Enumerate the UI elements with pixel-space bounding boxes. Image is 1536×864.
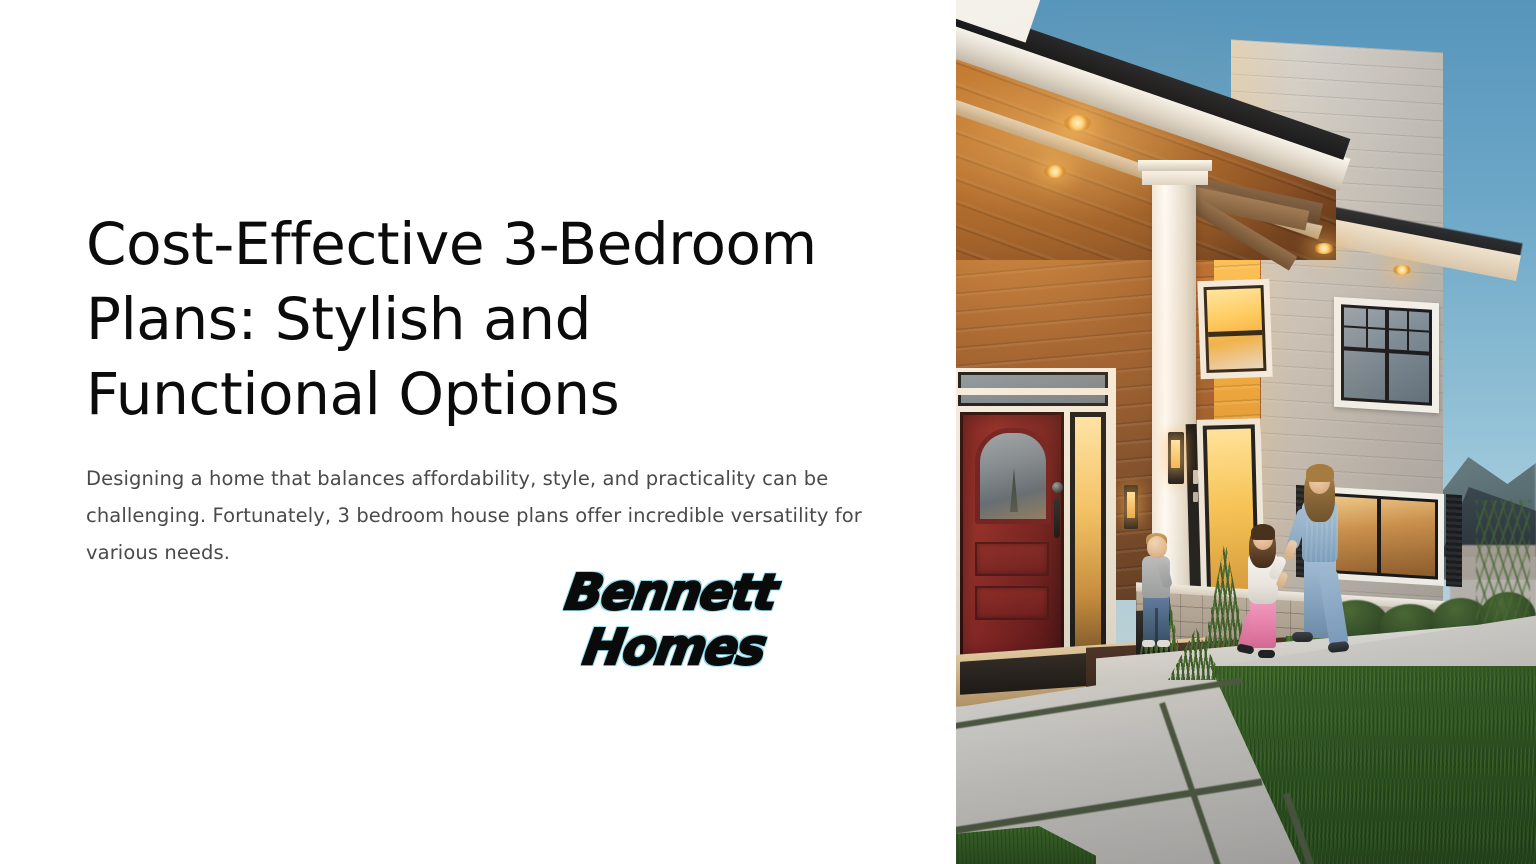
girl-leggings — [1250, 600, 1276, 648]
upper-porch-window — [1204, 285, 1267, 373]
boy-shoe — [1142, 640, 1155, 647]
girl-hair-front — [1251, 524, 1275, 540]
window-frame — [1341, 304, 1432, 406]
recessed-light-icon — [1393, 265, 1411, 275]
transom-divider — [958, 388, 1108, 395]
door-raised-panel — [975, 542, 1049, 576]
upper-double-hung-window — [1334, 297, 1439, 413]
window-shutter — [1446, 494, 1462, 587]
wall-sconce-glass — [1127, 492, 1135, 518]
logo-line-bennett: Bennett — [562, 568, 806, 617]
boy-leg-separation — [1155, 608, 1158, 642]
boy-shoe — [1157, 640, 1170, 647]
girl-shoe — [1258, 650, 1275, 658]
sapling-tree — [1476, 500, 1530, 630]
window-mullion — [1377, 499, 1381, 573]
window-frame — [1204, 285, 1267, 373]
window-mullion — [1385, 310, 1389, 400]
boy-head — [1147, 536, 1167, 558]
recessed-light-icon — [1064, 115, 1091, 131]
bennett-homes-logo: Bennett Homes — [552, 568, 802, 686]
subtitle-paragraph: Designing a home that balances affordabi… — [86, 460, 896, 571]
door-handle-icon — [1054, 498, 1060, 538]
door-raised-panel — [975, 586, 1049, 620]
page-title: Cost-Effective 3-Bedroom Plans: Stylish … — [86, 207, 886, 432]
entry-hardware — [1193, 492, 1198, 502]
woman-hair-front — [1306, 464, 1334, 482]
text-panel: Cost-Effective 3-Bedroom Plans: Stylish … — [0, 0, 956, 864]
logo-line-homes: Homes — [580, 623, 806, 672]
recessed-light-icon — [1044, 165, 1066, 178]
door-sidelite — [1070, 412, 1106, 658]
house-photo — [956, 0, 1536, 864]
column-capital-top — [1138, 160, 1212, 171]
woman-shoe — [1292, 632, 1313, 642]
slide-root: Cost-Effective 3-Bedroom Plans: Stylish … — [0, 0, 1536, 864]
wall-sconce-glass — [1171, 440, 1180, 468]
door-deadbolt-icon — [1052, 482, 1063, 493]
recessed-light-icon — [1314, 243, 1334, 254]
